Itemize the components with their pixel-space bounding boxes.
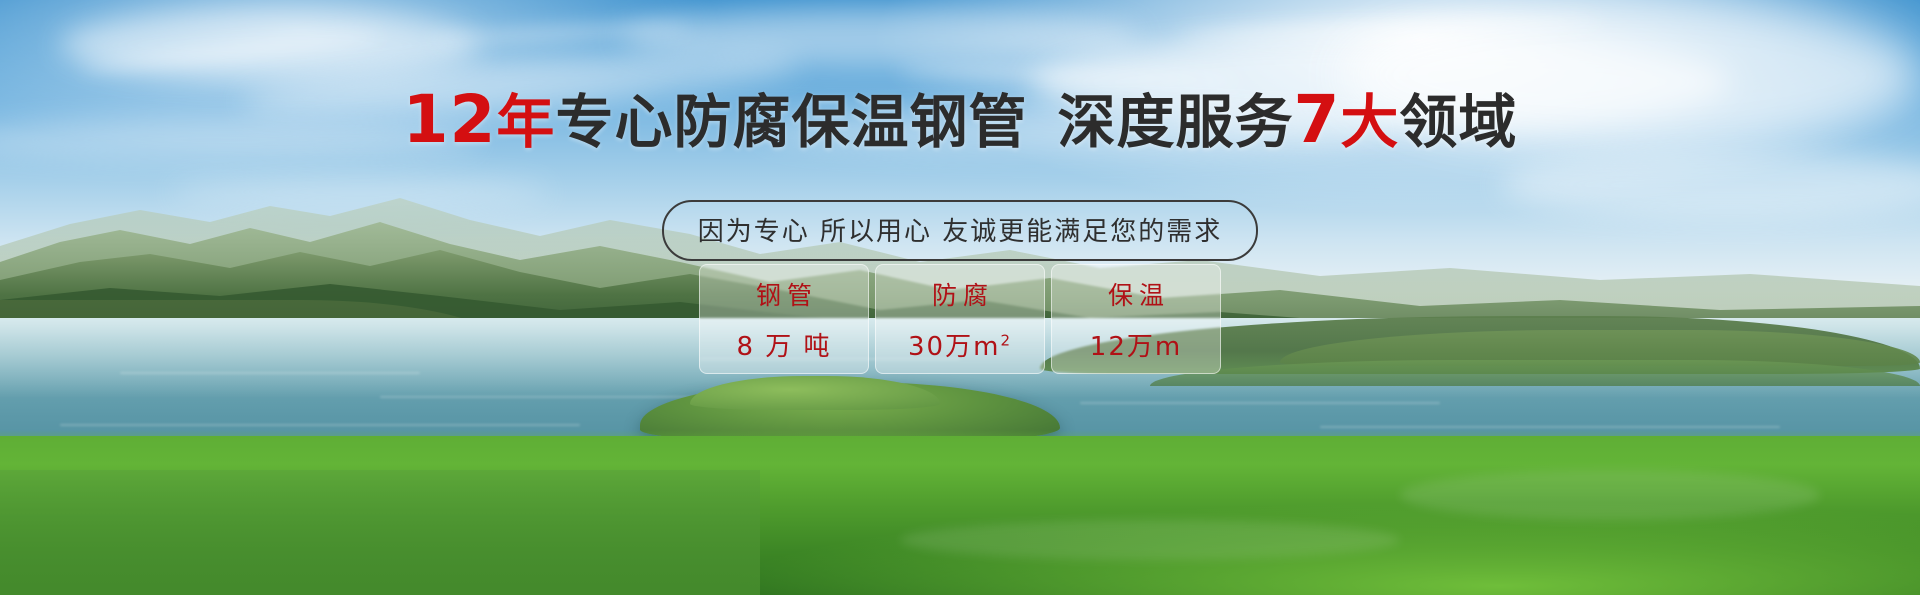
subtitle-pill: 因为专心 所以用心 友诚更能满足您的需求: [662, 200, 1259, 261]
stat-value-text: 8 万 吨: [736, 332, 831, 362]
stat-card-label: 钢管: [750, 276, 818, 312]
headline-fields-unit: 大: [1340, 88, 1399, 156]
stat-card-label: 保温: [1102, 276, 1170, 312]
stat-card-value: 8 万 吨: [736, 326, 831, 363]
headline-service-phrase: 深度服务: [1057, 88, 1293, 156]
headline-fields-word: 领域: [1399, 88, 1517, 156]
headline: 12年专心防腐保温钢管深度服务7大领域: [0, 85, 1920, 154]
stat-card-steel-pipe[interactable]: 钢管 8 万 吨: [699, 264, 869, 374]
subtitle-container: 因为专心 所以用心 友诚更能满足您的需求: [0, 200, 1920, 261]
stat-value-superscript: 2: [1000, 331, 1012, 349]
stat-card-insulation[interactable]: 保温 12万m: [1051, 264, 1221, 374]
stat-card-value: 30万m2: [908, 326, 1012, 363]
stat-value-text: 12万m: [1090, 332, 1182, 362]
headline-years-unit: 年: [496, 88, 555, 156]
stat-card-group: 钢管 8 万 吨 防腐 30万m2 保温 12万m: [0, 264, 1920, 374]
headline-main-phrase: 专心防腐保温钢管: [555, 88, 1027, 156]
banner-content: 12年专心防腐保温钢管深度服务7大领域 因为专心 所以用心 友诚更能满足您的需求…: [0, 0, 1920, 595]
stat-card-anticorrosion[interactable]: 防腐 30万m2: [875, 264, 1045, 374]
stat-card-label: 防腐: [926, 276, 994, 312]
stat-card-value: 12万m: [1090, 326, 1182, 363]
headline-fields-number: 7: [1293, 81, 1340, 158]
stat-value-text: 30万m: [908, 332, 1000, 362]
hero-banner: 12年专心防腐保温钢管深度服务7大领域 因为专心 所以用心 友诚更能满足您的需求…: [0, 0, 1920, 595]
headline-years-number: 12: [403, 81, 497, 158]
